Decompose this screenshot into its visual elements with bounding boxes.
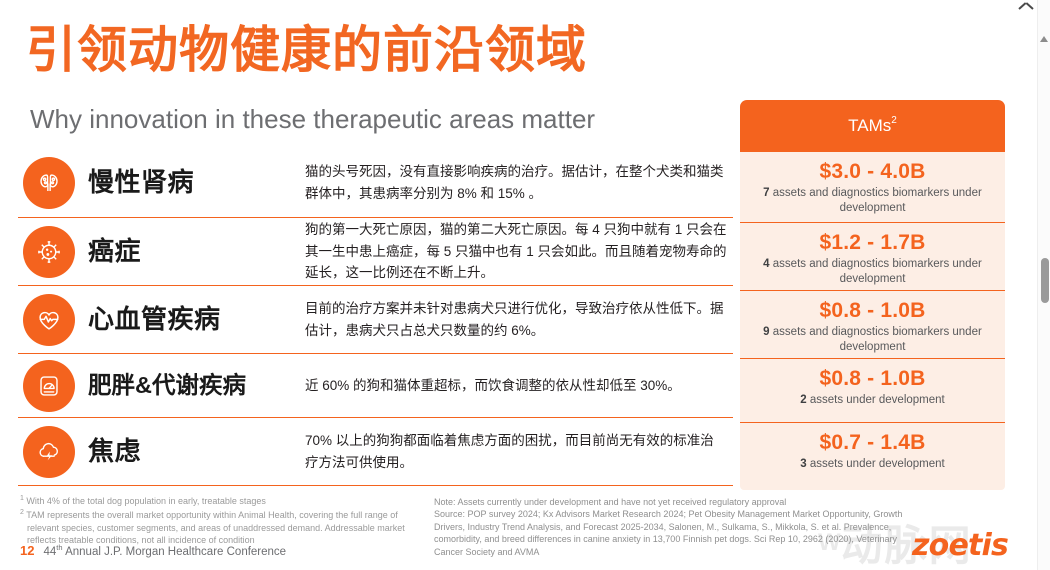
footnote-marker: 2: [20, 509, 24, 516]
tams-value: $1.2 - 1.7B: [748, 230, 997, 256]
tams-header-label: TAMs: [848, 116, 891, 136]
row-description: 70% 以上的狗狗都面临着焦虑方面的困扰，而目前尚无有效的标准治疗方法可供使用。: [305, 430, 733, 474]
conference-title: Annual J.P. Morgan Healthcare Conference: [63, 546, 287, 558]
footnote-left-block: 1 With 4% of the total dog population in…: [20, 494, 430, 547]
tams-cell-list: $3.0 - 4.0B 7 assets and diagnostics bio…: [740, 152, 1005, 490]
row-icon-wrap: [18, 426, 80, 478]
zoetis-logo: zoetis: [912, 528, 1008, 563]
page-title: 引领动物健康的前沿领域: [26, 24, 587, 77]
table-row: 肥胖&代谢疾病 近 60% 的狗和猫体重超标，而饮食调整的依从性却低至 30%。: [18, 354, 733, 418]
tams-value: $3.0 - 4.0B: [748, 159, 997, 185]
row-icon-wrap: [18, 157, 80, 209]
tams-note-text: assets under development: [807, 394, 945, 406]
heart-pulse-icon: [23, 294, 75, 346]
tams-note: 2 assets under development: [748, 393, 997, 408]
row-title: 肥胖&代谢疾病: [80, 373, 305, 399]
tams-note-text: assets and diagnostics biomarkers under …: [770, 258, 982, 285]
tams-cell: $3.0 - 4.0B 7 assets and diagnostics bio…: [740, 152, 1005, 222]
tams-value: $0.8 - 1.0B: [748, 366, 997, 392]
footnote-source: Source: POP survey 2024; Kx Advisors Mar…: [434, 508, 904, 558]
scroll-up-arrow-icon[interactable]: [1040, 36, 1048, 42]
chevron-up-icon[interactable]: [1019, 2, 1033, 12]
conference-ordinal: 44: [43, 546, 56, 558]
tams-value: $0.7 - 1.4B: [748, 430, 997, 456]
slide-footer: 12 44th Annual J.P. Morgan Healthcare Co…: [20, 543, 286, 558]
table-row: 慢性肾病 猫的头号死因，没有直接影响疾病的治疗。据估计，在整个犬类和猫类群体中，…: [18, 148, 733, 218]
tams-note-text: assets under development: [807, 458, 945, 470]
therapeutic-area-list: 慢性肾病 猫的头号死因，没有直接影响疾病的治疗。据估计，在整个犬类和猫类群体中，…: [18, 148, 733, 486]
weight-scale-icon: [23, 360, 75, 412]
row-description: 狗的第一大死亡原因，猫的第二大死亡原因。每 4 只狗中就有 1 只会在其一生中患…: [305, 219, 733, 285]
tams-cell: $0.8 - 1.0B 2 assets under development: [740, 358, 1005, 422]
tams-column-header: TAMs2: [740, 100, 1005, 152]
row-icon-wrap: [18, 226, 80, 278]
footnote-text: With 4% of the total dog population in e…: [26, 496, 265, 506]
row-title: 焦虑: [80, 437, 305, 466]
row-icon-wrap: [18, 360, 80, 412]
scrollbar-thumb[interactable]: [1041, 258, 1049, 303]
footnote-item: 2 TAM represents the overall market oppo…: [20, 508, 430, 547]
footnote-note: Note: Assets currently under development…: [434, 496, 904, 508]
storm-cloud-icon: [23, 426, 75, 478]
row-description: 猫的头号死因，没有直接影响疾病的治疗。据估计，在整个犬类和猫类群体中，其患病率分…: [305, 161, 733, 205]
tams-cell: $1.2 - 1.7B 4 assets and diagnostics bio…: [740, 222, 1005, 290]
footnote-marker: 1: [20, 495, 24, 502]
tams-note: 7 assets and diagnostics biomarkers unde…: [748, 186, 997, 216]
page-number: 12: [20, 543, 34, 558]
footnote-item: 1 With 4% of the total dog population in…: [20, 494, 430, 508]
row-title: 心血管疾病: [80, 305, 305, 334]
tams-cell: $0.7 - 1.4B 3 assets under development: [740, 422, 1005, 490]
row-icon-wrap: [18, 294, 80, 346]
tams-note: 9 assets and diagnostics biomarkers unde…: [748, 325, 997, 355]
row-description: 近 60% 的狗和猫体重超标，而饮食调整的依从性却低至 30%。: [305, 375, 733, 397]
row-description: 目前的治疗方案并未针对患病犬只进行优化，导致治疗依从性低下。据估计，患病犬只占总…: [305, 298, 733, 342]
footnote-text: TAM represents the overall market opport…: [26, 510, 404, 546]
tams-cell: $0.8 - 1.0B 9 assets and diagnostics bio…: [740, 290, 1005, 358]
table-row: 癌症 狗的第一大死亡原因，猫的第二大死亡原因。每 4 只狗中就有 1 只会在其一…: [18, 218, 733, 286]
footnote-right-block: Note: Assets currently under development…: [434, 496, 904, 558]
conference-name: 44th Annual J.P. Morgan Healthcare Confe…: [43, 543, 286, 558]
tams-column: TAMs2 $3.0 - 4.0B 7 assets and diagnosti…: [740, 100, 1005, 490]
tams-header-superscript: 2: [891, 115, 897, 126]
tams-value: $0.8 - 1.0B: [748, 298, 997, 324]
cancer-cell-icon: [23, 226, 75, 278]
slide-canvas: 引领动物健康的前沿领域 Why innovation in these ther…: [0, 0, 1050, 570]
vertical-scrollbar[interactable]: [1037, 0, 1050, 570]
tams-note-text: assets and diagnostics biomarkers under …: [770, 187, 982, 214]
table-row: 焦虑 70% 以上的狗狗都面临着焦虑方面的困扰，而目前尚无有效的标准治疗方法可供…: [18, 418, 733, 486]
tams-note: 4 assets and diagnostics biomarkers unde…: [748, 257, 997, 287]
kidneys-icon: [23, 157, 75, 209]
page-subtitle: Why innovation in these therapeutic area…: [30, 104, 595, 135]
tams-note: 3 assets under development: [748, 457, 997, 472]
table-row: 心血管疾病 目前的治疗方案并未针对患病犬只进行优化，导致治疗依从性低下。据估计，…: [18, 286, 733, 354]
row-title: 慢性肾病: [80, 168, 305, 197]
row-title: 癌症: [80, 237, 305, 266]
tams-note-text: assets and diagnostics biomarkers under …: [770, 326, 982, 353]
